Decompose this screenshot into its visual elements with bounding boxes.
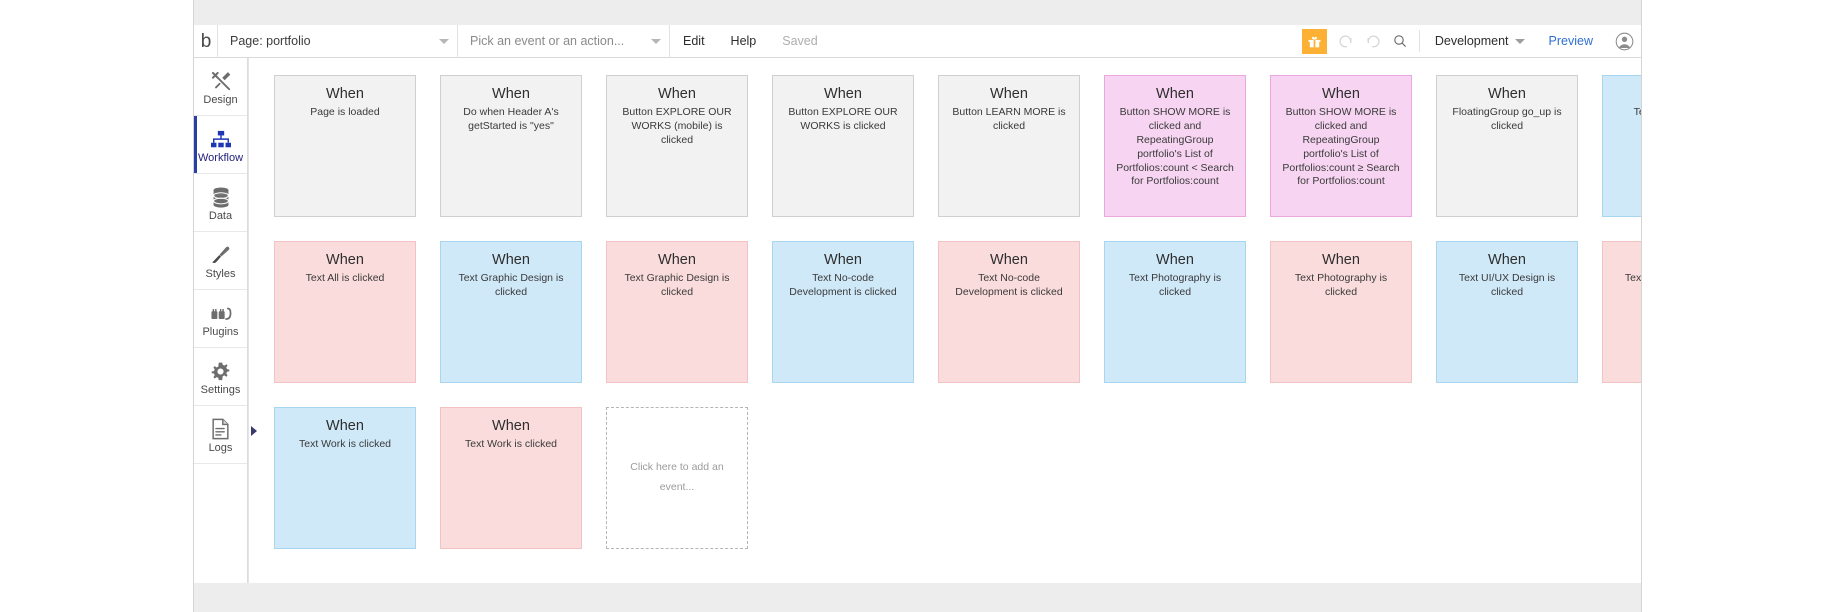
workflow-card[interactable]: WhenText All is clicked [1602, 75, 1641, 217]
workflow-card[interactable]: WhenText UI/UX Design is clicked [1436, 241, 1578, 383]
workflow-card-description: Text Photography is clicked [1279, 272, 1403, 300]
sidebar-item-logs[interactable]: Logs [194, 406, 247, 464]
workflow-card[interactable]: WhenPage is loaded [274, 75, 416, 217]
document-lines-icon [211, 416, 230, 440]
workflow-card-when-label: When [615, 85, 739, 103]
workflow-card-when-label: When [449, 85, 573, 103]
workflow-card-when-label: When [1113, 85, 1237, 103]
workflow-card[interactable]: WhenText Graphic Design is clicked [606, 241, 748, 383]
sidebar-item-data[interactable]: Data [194, 174, 247, 232]
chevron-down-icon [651, 39, 661, 44]
workflow-card-description: Button EXPLORE OUR WORKS (mobile) is cli… [615, 106, 739, 148]
workflow-card[interactable]: WhenText Graphic Design is clicked [440, 241, 582, 383]
workflow-card-description: Text All is clicked [283, 272, 407, 286]
workflow-card-description: Text Work is clicked [449, 438, 573, 452]
workflow-card-when-label: When [947, 85, 1071, 103]
gift-icon [1307, 34, 1322, 49]
window-title-strip [194, 0, 1641, 25]
workflow-card[interactable]: WhenButton EXPLORE OUR WORKS is clicked [772, 75, 914, 217]
preview-button[interactable]: Preview [1535, 25, 1607, 58]
workflow-card-grid: WhenPage is loadedWhenDo when Header A's… [274, 75, 1641, 549]
workflow-card[interactable]: WhenButton LEARN MORE is clicked [938, 75, 1080, 217]
sidebar-item-workflow[interactable]: Workflow [194, 116, 247, 174]
workflow-card-when-label: When [283, 417, 407, 435]
toolbar-divider [1419, 30, 1420, 52]
top-toolbar: b Page: portfolio Pick an event or an ac… [194, 25, 1641, 58]
workflow-card-description: Text Graphic Design is clicked [449, 272, 573, 300]
workflow-card-description: Button LEARN MORE is clicked [947, 106, 1071, 134]
window-bottom-strip [193, 583, 1642, 612]
paintbrush-icon [210, 242, 232, 266]
sidebar-item-design-label: Design [203, 95, 237, 106]
sidebar-item-styles[interactable]: Styles [194, 232, 247, 290]
workflow-card-when-label: When [449, 417, 573, 435]
sidebar-item-plugins[interactable]: Plugins [194, 290, 247, 348]
workflow-card-description: Text No-code Development is clicked [781, 272, 905, 300]
search-icon [1392, 33, 1408, 49]
workflow-card[interactable]: WhenText Photography is clicked [1104, 241, 1246, 383]
workflow-card[interactable]: WhenButton SHOW MORE is clicked and Repe… [1104, 75, 1246, 217]
workflow-hierarchy-icon [210, 126, 232, 150]
workflow-card[interactable]: WhenFloatingGroup go_up is clicked [1436, 75, 1578, 217]
workflow-card-when-label: When [781, 251, 905, 269]
workflow-card[interactable]: WhenText UI/UX Design is clicked [1602, 241, 1641, 383]
workflow-card-description: Button EXPLORE OUR WORKS is clicked [781, 106, 905, 134]
workflow-card-description: Text Graphic Design is clicked [615, 272, 739, 300]
add-event-card[interactable]: Click here to add an event... [606, 407, 748, 549]
gift-button[interactable] [1302, 29, 1327, 54]
redo-button[interactable] [1360, 25, 1387, 58]
save-status: Saved [769, 25, 830, 58]
workflow-card-description: Do when Header A's getStarted is "yes" [449, 106, 573, 134]
environment-label: Development [1435, 34, 1509, 48]
workflow-card-description: Text All is clicked [1611, 106, 1641, 120]
plugins-icon [210, 300, 232, 324]
workflow-card[interactable]: WhenText All is clicked [274, 241, 416, 383]
workflow-card-when-label: When [283, 251, 407, 269]
page-select[interactable]: Page: portfolio [218, 25, 458, 58]
workflow-card-when-label: When [615, 251, 739, 269]
sidebar-item-design[interactable]: Design [194, 58, 247, 116]
redo-icon [1365, 33, 1381, 49]
bubble-logo-text: b [201, 32, 211, 51]
gear-icon [210, 358, 231, 382]
sidebar-item-settings-label: Settings [201, 385, 241, 396]
workflow-card[interactable]: WhenButton SHOW MORE is clicked and Repe… [1270, 75, 1412, 217]
workflow-card[interactable]: WhenButton EXPLORE OUR WORKS (mobile) is… [606, 75, 748, 217]
page-select-label: Page: portfolio [230, 34, 433, 48]
left-sidebar: Design Workflow [194, 58, 248, 583]
workflow-card-when-label: When [1611, 85, 1641, 103]
workflow-card-when-label: When [1445, 85, 1569, 103]
workflow-card-description: Page is loaded [283, 106, 407, 120]
sidebar-item-plugins-label: Plugins [202, 327, 238, 338]
edit-menu[interactable]: Edit [670, 25, 718, 58]
workflow-card[interactable]: WhenText No-code Development is clicked [772, 241, 914, 383]
undo-button[interactable] [1333, 25, 1360, 58]
help-menu[interactable]: Help [718, 25, 770, 58]
workflow-card-description: Text UI/UX Design is clicked [1611, 272, 1641, 300]
chevron-down-icon [439, 39, 449, 44]
toolbar-right-group: Development Preview [1302, 25, 1641, 58]
workflow-card-when-label: When [781, 85, 905, 103]
workflow-card-when-label: When [947, 251, 1071, 269]
sidebar-item-styles-label: Styles [206, 269, 236, 280]
workflow-card[interactable]: WhenDo when Header A's getStarted is "ye… [440, 75, 582, 217]
event-action-select[interactable]: Pick an event or an action... [458, 25, 670, 58]
workflow-card-description: Text UI/UX Design is clicked [1445, 272, 1569, 300]
search-button[interactable] [1387, 25, 1414, 58]
chevron-down-icon [1515, 39, 1525, 44]
workflow-card-description: Button SHOW MORE is clicked and Repeatin… [1113, 106, 1237, 189]
workflow-card-when-label: When [1279, 251, 1403, 269]
design-tools-icon [210, 68, 232, 92]
app-root: b Page: portfolio Pick an event or an ac… [0, 0, 1830, 612]
workflow-card-description: Text Work is clicked [283, 438, 407, 452]
workflow-card[interactable]: WhenText Work is clicked [440, 407, 582, 549]
workflow-card-description: Text Photography is clicked [1113, 272, 1237, 300]
workflow-card-when-label: When [449, 251, 573, 269]
workflow-card-when-label: When [1279, 85, 1403, 103]
sidebar-item-data-label: Data [209, 211, 232, 222]
sidebar-item-settings[interactable]: Settings [194, 348, 247, 406]
workflow-card-when-label: When [1445, 251, 1569, 269]
editor-window: b Page: portfolio Pick an event or an ac… [193, 0, 1642, 583]
user-avatar[interactable] [1607, 25, 1641, 58]
add-event-card-label: Click here to add an event... [625, 458, 729, 498]
workflow-card-description: Button SHOW MORE is clicked and Repeatin… [1279, 106, 1403, 189]
workflow-card-when-label: When [283, 85, 407, 103]
environment-select[interactable]: Development [1425, 25, 1535, 58]
sidebar-item-logs-label: Logs [209, 443, 233, 454]
triangle-right-icon [251, 426, 257, 436]
database-icon [211, 184, 231, 208]
workflow-card-when-label: When [1113, 251, 1237, 269]
workflow-card[interactable]: WhenText No-code Development is clicked [938, 241, 1080, 383]
workflow-card-description: Text No-code Development is clicked [947, 272, 1071, 300]
workflow-card-when-label: When [1611, 251, 1641, 269]
sidebar-item-workflow-label: Workflow [198, 153, 243, 164]
sidebar-collapse-handle[interactable] [249, 425, 259, 437]
workflow-card[interactable]: WhenText Work is clicked [274, 407, 416, 549]
user-avatar-icon [1615, 32, 1634, 51]
workflow-card-description: FloatingGroup go_up is clicked [1445, 106, 1569, 134]
workflow-canvas[interactable]: WhenPage is loadedWhenDo when Header A's… [248, 58, 1641, 583]
workflow-card[interactable]: WhenText Photography is clicked [1270, 241, 1412, 383]
event-action-placeholder: Pick an event or an action... [470, 34, 645, 48]
bubble-logo[interactable]: b [194, 25, 218, 58]
undo-icon [1338, 33, 1354, 49]
